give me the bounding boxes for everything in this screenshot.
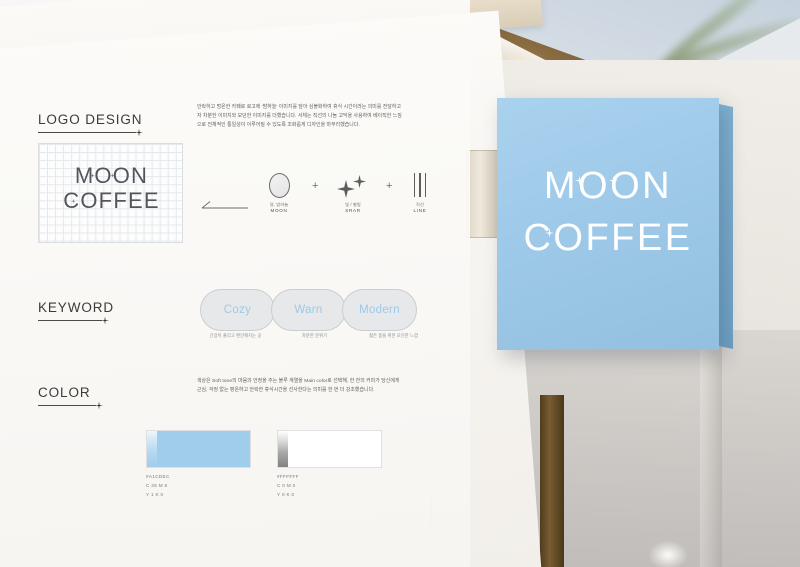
section-title-logo-design: LOGO DESIGN: [38, 112, 142, 127]
moon-circle-icon: [253, 168, 305, 202]
section-title-keyword: KEYWORD: [38, 300, 114, 315]
swatch-cmyk: C 35 M 8 Y 1 K 0: [146, 482, 170, 500]
keyword-pill-warn[interactable]: Warn: [271, 289, 346, 331]
section-rule: [38, 320, 102, 321]
logo-construction-formula: 달, 밤하늘 MOON + 빛 / 별빛 SRAR + 직선 LINE: [196, 168, 436, 228]
formula-label-en: SRAR: [326, 208, 380, 215]
section-rule: [38, 405, 96, 406]
sparkle-icon: [95, 402, 103, 410]
logo-line-2-text: COFFEE: [63, 188, 159, 213]
sparkle-icon: [135, 129, 143, 137]
keyword-pill-label: Modern: [359, 304, 400, 316]
plus-operator: +: [312, 180, 318, 192]
logo-line-1: MOON: [39, 164, 184, 189]
formula-item-moon: 달, 밤하늘 MOON: [253, 168, 305, 215]
formula-label-en: MOON: [253, 208, 305, 215]
vertical-lines-icon: [399, 168, 441, 202]
section-header-color: COLOR: [38, 385, 96, 406]
color-description: 색상은 Soft tone의 마음의 안정을 주는 블루 계열을 Main co…: [197, 378, 405, 396]
plus-operator: +: [386, 180, 392, 192]
keyword-pill-row: Cozy Warn Modern: [200, 289, 413, 331]
formula-item-star: 빛 / 별빛 SRAR: [326, 168, 380, 215]
arrow-left-icon: [196, 200, 248, 210]
section-rule: [38, 132, 136, 133]
swatch-hex: #FFFFFF: [277, 473, 299, 482]
swatch-hex: #A1CDEC: [146, 473, 170, 482]
content-panel: LOGO DESIGN 안락하고 멍온한 카페로 로고에 '밤하늘' 이미지를 …: [0, 0, 800, 567]
section-header-logo-design: LOGO DESIGN: [38, 112, 142, 133]
section-title-color: COLOR: [38, 385, 96, 400]
swatch-meta: #FFFFFF C 0 M 0 Y 0 K 0: [277, 473, 299, 500]
sparkle-icon: [101, 317, 109, 325]
logo-line-2: COFFEE: [39, 189, 184, 214]
keyword-caption: 긴장이 풀리고 편안해지는 곳: [196, 333, 275, 339]
sparkle-star-icon: [326, 168, 380, 202]
keyword-caption: 젊은 층을 위한 모던한 느낌: [354, 333, 433, 339]
formula-label-en: LINE: [399, 208, 441, 215]
logo-description: 안락하고 멍온한 카페로 로고에 '밤하늘' 이미지를 담아 심볼화하여 휴식 …: [197, 104, 405, 131]
swatch-meta: #A1CDEC C 35 M 8 Y 1 K 0: [146, 473, 170, 500]
brand-guideline-page: MOON COFFEE LOGO DESIGN 안락하고 멍온한 카페로 로고에…: [0, 0, 800, 567]
swatch-fill: [277, 430, 382, 468]
keyword-caption-row: 긴장이 풀리고 편안해지는 곳 차분한 분위기 젊은 층을 위한 모던한 느낌: [196, 333, 433, 339]
swatch-tint-ramp: [147, 431, 157, 467]
swatch-cmyk: C 0 M 0 Y 0 K 0: [277, 482, 299, 500]
logo-lockup: MOON COFFEE: [39, 164, 184, 213]
logo-grid-box: MOON COFFEE: [38, 143, 183, 243]
swatch-tint-ramp: [278, 431, 288, 467]
formula-item-line: 직선 LINE: [399, 168, 441, 215]
keyword-caption: 차분한 분위기: [275, 333, 354, 339]
keyword-pill-modern[interactable]: Modern: [342, 289, 417, 331]
keyword-pill-cozy[interactable]: Cozy: [200, 289, 275, 331]
swatch-fill: [146, 430, 251, 468]
section-header-keyword: KEYWORD: [38, 300, 114, 321]
keyword-pill-label: Cozy: [224, 304, 251, 316]
keyword-pill-label: Warn: [294, 304, 322, 316]
